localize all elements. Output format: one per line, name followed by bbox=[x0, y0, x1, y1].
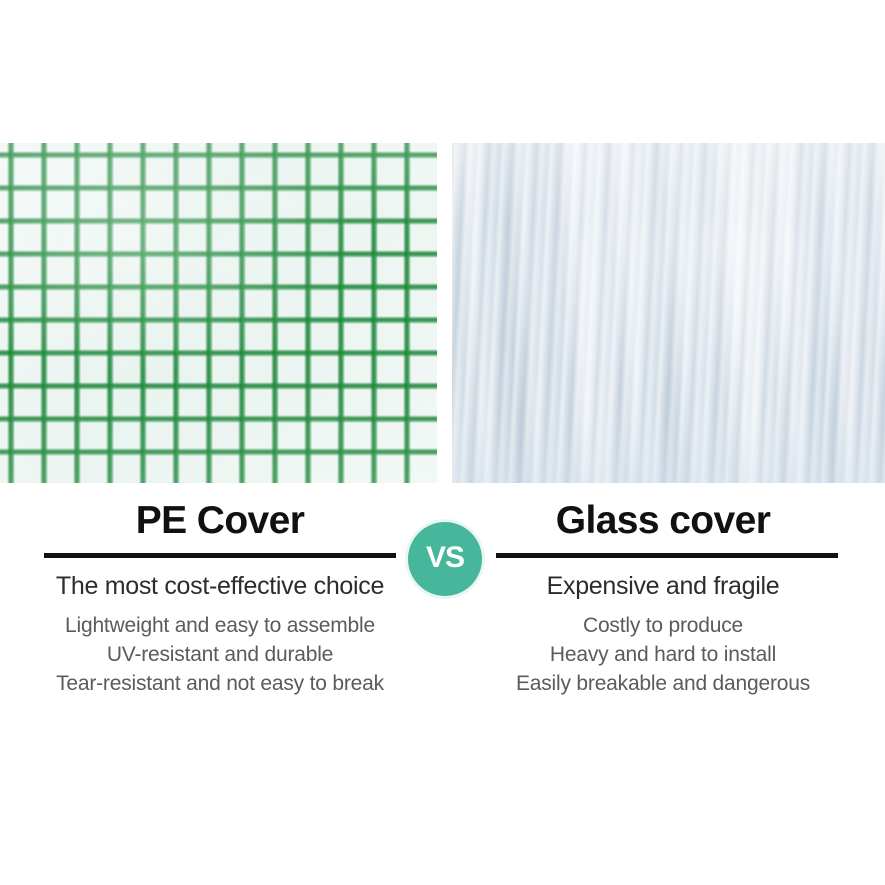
glass-cover-divider bbox=[496, 553, 838, 558]
pe-cover-subheading: The most cost-effective choice bbox=[22, 570, 418, 602]
list-item: Heavy and hard to install bbox=[465, 640, 861, 669]
pe-mesh-texture bbox=[0, 143, 437, 483]
vs-badge: VS bbox=[408, 522, 482, 596]
product-image-comparison-strip bbox=[0, 143, 885, 483]
glass-cover-heading: Glass cover bbox=[465, 495, 861, 545]
glass-texture bbox=[452, 143, 885, 483]
list-item: Costly to produce bbox=[465, 611, 861, 640]
list-item: UV-resistant and durable bbox=[22, 640, 418, 669]
list-item: Tear-resistant and not easy to break bbox=[22, 669, 418, 698]
comparison-infographic: PE Cover The most cost-effective choice … bbox=[0, 0, 885, 885]
pe-cover-feature-list: Lightweight and easy to assemble UV-resi… bbox=[22, 611, 418, 698]
list-item: Lightweight and easy to assemble bbox=[22, 611, 418, 640]
pe-cover-column: PE Cover The most cost-effective choice … bbox=[22, 495, 418, 698]
glass-cover-column: Glass cover Expensive and fragile Costly… bbox=[465, 495, 861, 698]
pe-cover-divider bbox=[44, 553, 396, 558]
pe-cover-heading: PE Cover bbox=[22, 495, 418, 545]
vs-badge-label: VS bbox=[426, 543, 464, 573]
glass-cover-subheading: Expensive and fragile bbox=[465, 570, 861, 602]
list-item: Easily breakable and dangerous bbox=[465, 669, 861, 698]
glass-image-panel bbox=[452, 143, 885, 483]
pe-mesh-image-panel bbox=[0, 143, 437, 483]
glass-cover-feature-list: Costly to produce Heavy and hard to inst… bbox=[465, 611, 861, 698]
